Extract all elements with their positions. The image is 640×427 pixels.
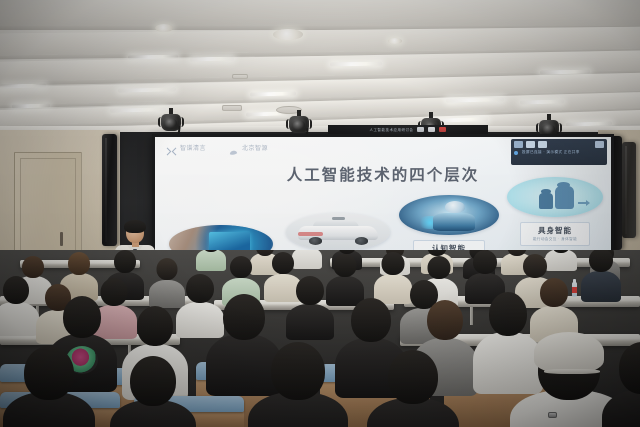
ceiling-downlight <box>273 29 303 40</box>
audience-person <box>548 250 574 264</box>
audience-person <box>0 276 34 332</box>
event-banner-text: 人工智能技术应用研讨会 <box>370 127 414 132</box>
screen-share-overlay[interactable]: 投屏已连接 · 演示模式 正在共享 <box>511 139 607 165</box>
audience-person <box>470 250 500 296</box>
minimize-icon[interactable] <box>514 141 523 148</box>
level-sublabel: 能行动会交互 · 身体智能 <box>527 237 583 242</box>
audience-area <box>0 250 640 427</box>
logo-left-text: 智谱清言 <box>180 143 206 152</box>
audience-person <box>612 342 640 427</box>
door-handle[interactable] <box>60 232 63 246</box>
ceiling-vent <box>232 74 248 79</box>
banner-chip <box>439 127 446 132</box>
audience-person <box>152 258 182 302</box>
audience-person <box>16 346 82 427</box>
banner-chip <box>428 127 435 132</box>
close-icon[interactable] <box>595 141 604 148</box>
desk-leg <box>470 307 473 325</box>
audience-person <box>536 278 572 336</box>
audience-person <box>380 350 446 427</box>
audience-person <box>586 250 616 294</box>
audience-person <box>330 254 360 298</box>
water-bottle <box>572 282 577 297</box>
status-dot-icon <box>514 151 518 155</box>
audience-person <box>198 250 224 264</box>
level-caption-embodied: 具身智能 能行动会交互 · 身体智能 <box>520 222 590 246</box>
level-image-cognitive <box>399 195 499 235</box>
ceiling-downlight <box>155 24 173 32</box>
audience-person-white-cap <box>524 334 614 427</box>
audience-person <box>122 356 184 427</box>
audience-person <box>182 274 218 332</box>
level-label: 具身智能 <box>527 225 583 236</box>
slide-logo-row: 智谱清言 北京智源 <box>166 143 268 152</box>
event-banner: 人工智能技术应用研讨会 <box>328 125 488 134</box>
ceiling-light-strip <box>190 57 234 62</box>
level-image-perceptual <box>286 213 390 251</box>
logo-left: 智谱清言 <box>166 143 206 152</box>
brand-mark-icon <box>166 143 177 152</box>
logo-right-text: 北京智源 <box>242 143 268 152</box>
screen-icon[interactable] <box>538 141 547 148</box>
screen-share-status: 投屏已连接 · 演示模式 正在共享 <box>522 150 580 155</box>
baseball-cap <box>534 332 604 372</box>
logo-right: 北京智源 <box>228 143 268 152</box>
audience-person <box>262 342 334 427</box>
window-icon[interactable] <box>526 141 535 148</box>
column-speaker-right-rear <box>622 142 636 238</box>
brand-mark-icon <box>228 143 239 152</box>
banner-chip <box>417 127 424 132</box>
ceiling-vent <box>222 105 242 111</box>
audience-person <box>292 276 328 334</box>
ceiling-downlight <box>388 38 402 44</box>
slide-level-embodied: 具身智能 能行动会交互 · 身体智能 <box>507 177 603 246</box>
level-image-embodied <box>507 177 603 217</box>
audience-person <box>378 252 408 296</box>
lecture-hall-photo: 人工智能技术应用研讨会 智谱清言 北京智源 <box>0 0 640 427</box>
stage-spotlight <box>158 114 184 136</box>
ceiling <box>0 0 640 132</box>
wristwatch <box>548 412 557 418</box>
